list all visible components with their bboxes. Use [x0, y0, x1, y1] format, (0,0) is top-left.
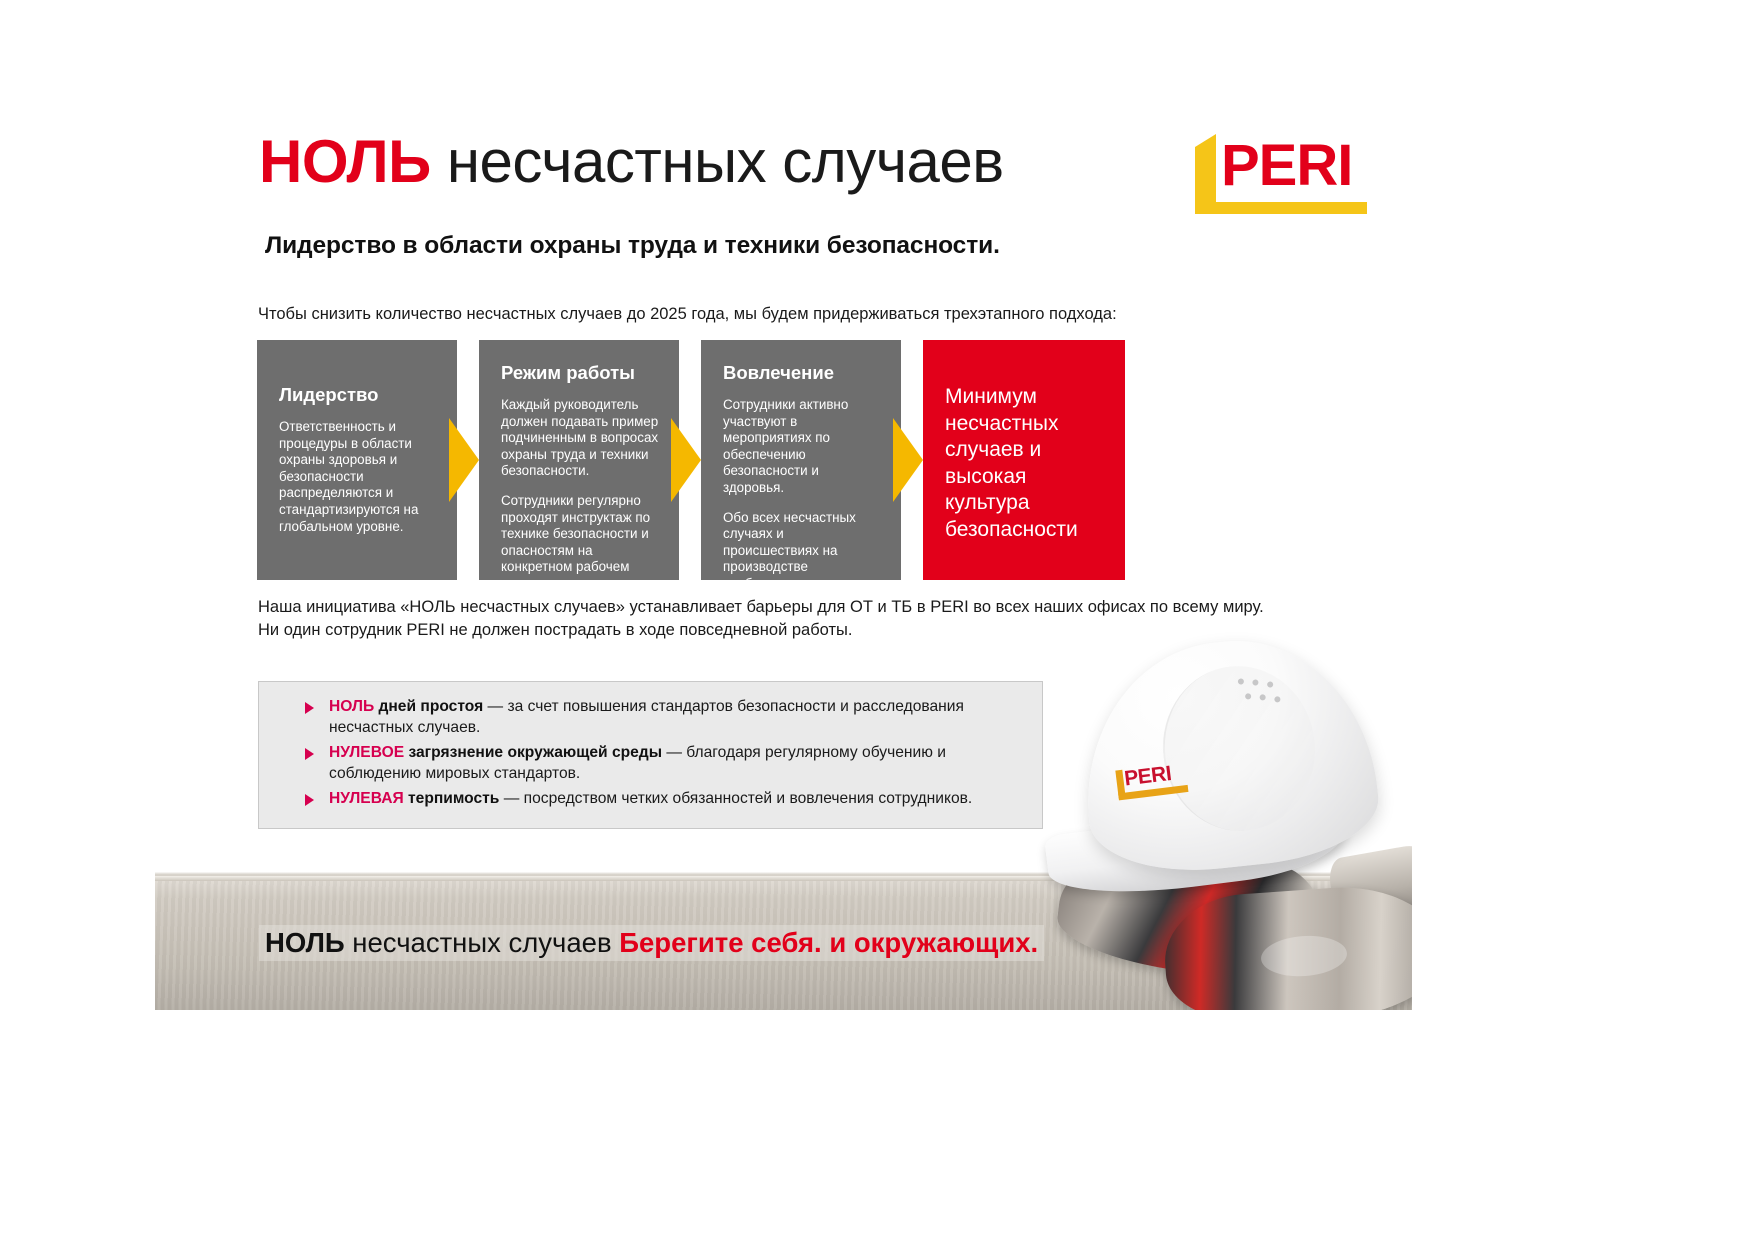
headline-rest: несчастных случаев: [431, 128, 1004, 195]
step-title: Лидерство: [279, 384, 437, 406]
footer-slogan: НОЛЬ несчастных случаев Берегите себя. и…: [259, 925, 1044, 961]
footer-plain-text: несчастных случаев: [345, 927, 620, 958]
bullet-keyword: НУЛЕВАЯ: [329, 790, 404, 807]
zero-goals-panel: НОЛЬ дней простоя — за счет повышения ст…: [258, 681, 1043, 829]
bullet-keyword: НУЛЕВОЕ: [329, 744, 404, 761]
bullet-triangle-icon: [305, 702, 314, 714]
list-item: НОЛЬ дней простоя — за счет повышения ст…: [329, 696, 1022, 738]
intro-text: Чтобы снизить количество несчастных случ…: [258, 305, 1338, 324]
logo-bracket-horizontal: [1195, 202, 1367, 214]
headline-zero-word: НОЛЬ: [259, 128, 431, 195]
list-item: НУЛЕВАЯ терпимость — посредством четких …: [329, 788, 1022, 809]
page-title: НОЛЬ несчастных случаев: [259, 128, 1004, 196]
process-step-work-mode: Режим работы Каждый руководитель должен …: [479, 340, 679, 580]
list-item: НУЛЕВОЕ загрязнение окружающей среды — б…: [329, 742, 1022, 784]
bullet-triangle-icon: [305, 794, 314, 806]
footer-red-text: Берегите себя. и окружающих.: [619, 927, 1038, 958]
result-text: Минимум несчастных случаев и высокая кул…: [945, 384, 1105, 543]
arrow-right-icon-3: [893, 418, 923, 502]
peri-logo: PERI: [1195, 134, 1367, 214]
process-result-box: Минимум несчастных случаев и высокая кул…: [923, 340, 1125, 580]
page-subtitle: Лидерство в области охраны труда и техни…: [265, 232, 1000, 260]
step-paragraph: Каждый руководитель должен подавать прим…: [501, 397, 659, 480]
bullet-bold: загрязнение окружающей среды: [404, 744, 662, 761]
step-paragraph: Сотрудники регулярно проходят инструктаж…: [501, 493, 659, 593]
bullet-bold: терпимость: [404, 790, 500, 807]
helmet-logo-wordmark: PERI: [1123, 763, 1172, 791]
logo-wordmark: PERI: [1221, 137, 1352, 195]
process-flow: Лидерство Ответственность и процедуры в …: [257, 340, 1377, 580]
step-title: Режим работы: [501, 362, 659, 384]
arrow-right-icon-1: [449, 418, 479, 502]
bullet-triangle-icon: [305, 748, 314, 760]
process-step-involvement: Вовлечение Сотрудники активно участвуют …: [701, 340, 901, 580]
footer-bold-word: НОЛЬ: [265, 927, 345, 958]
step-paragraph: Ответственность и процедуры в области ох…: [279, 419, 437, 535]
step-title: Вовлечение: [723, 362, 881, 384]
slide-canvas: НОЛЬ несчастных случаев Лидерство в обла…: [155, 62, 1412, 1010]
bullet-bold: дней простоя: [374, 698, 483, 715]
process-step-leadership: Лидерство Ответственность и процедуры в …: [257, 340, 457, 580]
bullet-keyword: НОЛЬ: [329, 698, 374, 715]
arrow-right-icon-2: [671, 418, 701, 502]
safety-gear-photo: PERI: [1035, 622, 1412, 1010]
bullet-rest: — посредством четких обязанностей и вовл…: [499, 790, 972, 807]
step-paragraph: Сотрудники активно участвуют в мероприят…: [723, 397, 881, 497]
